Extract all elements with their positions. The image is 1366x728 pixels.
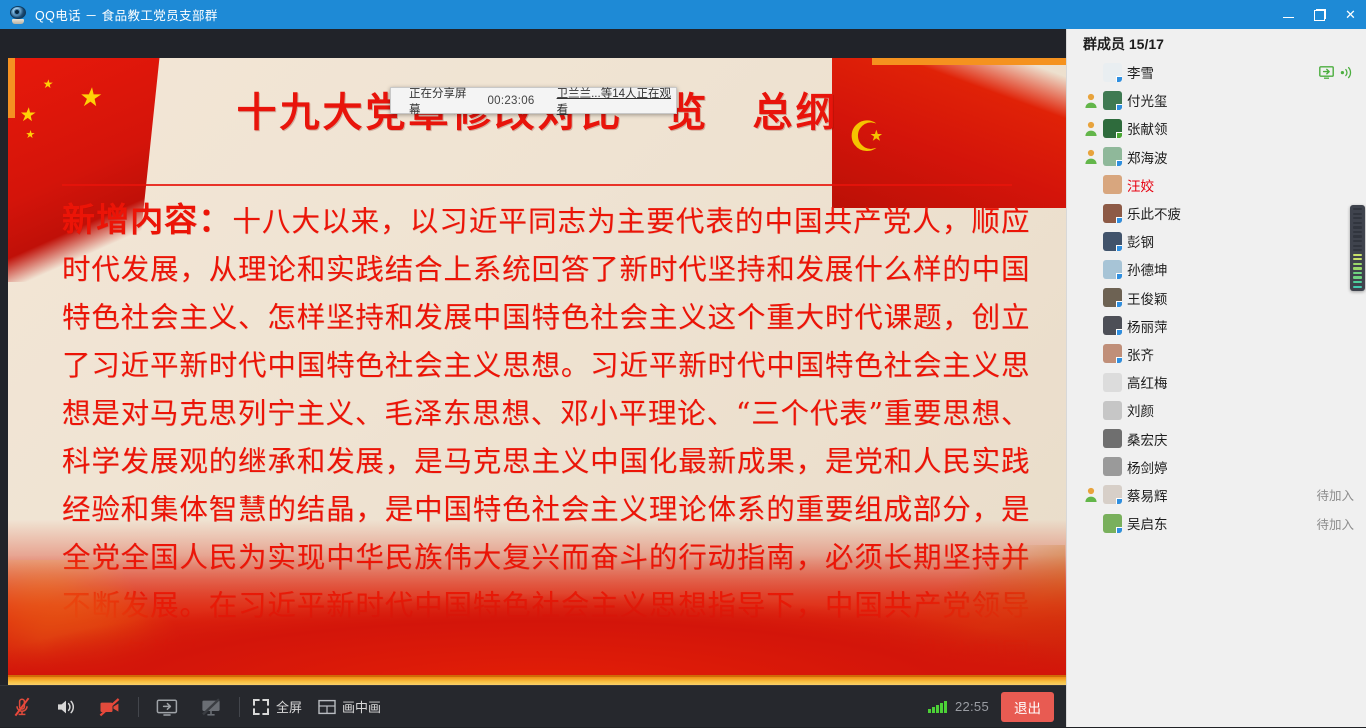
avatar-status-badge bbox=[1116, 76, 1122, 82]
member-panel: 群成员 15/17 李雪付光玺张献领郑海波汪姣乐此不疲彭钢孙德坤王俊颖杨丽萍张齐… bbox=[1066, 29, 1366, 727]
participant-flag-icon bbox=[1084, 121, 1098, 136]
window-title: QQ电话 － 食品教工党员支部群 bbox=[35, 5, 218, 24]
camera-muted-icon bbox=[98, 697, 122, 717]
sound-wave-icon bbox=[1340, 66, 1354, 79]
window-controls: ✕ bbox=[1273, 0, 1366, 29]
avatar bbox=[1103, 344, 1122, 363]
member-panel-header: 群成员 15/17 bbox=[1067, 29, 1366, 58]
red-wave-decoration bbox=[8, 555, 1067, 675]
avatar-status-badge bbox=[1116, 357, 1122, 363]
close-button[interactable]: ✕ bbox=[1335, 0, 1366, 29]
speaker-button[interactable] bbox=[44, 686, 88, 728]
restore-icon bbox=[1314, 9, 1326, 21]
audio-level-meter bbox=[1350, 205, 1365, 291]
signal-bars-icon bbox=[928, 700, 947, 713]
avatar-status-badge bbox=[1116, 498, 1122, 504]
avatar-status-badge bbox=[1116, 217, 1122, 223]
video-stage: ★ ★ ★ ★ ☪ 十九大党章修改对比一览 总纲 新增内容：十八大以来，以习近平… bbox=[0, 29, 1066, 727]
member-name: 杨丽萍 bbox=[1127, 316, 1168, 336]
member-list-item[interactable]: 桑宏庆 bbox=[1067, 424, 1366, 452]
avatar bbox=[1103, 63, 1122, 82]
member-list-item[interactable]: 张献领 bbox=[1067, 114, 1366, 142]
fullscreen-button[interactable]: 全屏 bbox=[246, 686, 312, 728]
member-list-item[interactable]: 杨丽萍 bbox=[1067, 312, 1366, 340]
picture-in-picture-icon bbox=[318, 699, 336, 715]
member-name: 吴启东 bbox=[1127, 513, 1168, 533]
avatar bbox=[1103, 514, 1122, 533]
orange-stripe-right bbox=[872, 58, 1067, 65]
member-name: 张齐 bbox=[1127, 344, 1154, 364]
share-screen-button[interactable] bbox=[145, 686, 189, 728]
member-list-item[interactable]: 王俊颖 bbox=[1067, 284, 1366, 312]
member-list-item[interactable]: 吴启东待加入 bbox=[1067, 509, 1366, 537]
avatar bbox=[1103, 373, 1122, 392]
whiteboard-disabled-button[interactable] bbox=[189, 686, 233, 728]
avatar-status-badge bbox=[1116, 160, 1122, 166]
minimize-button[interactable] bbox=[1273, 0, 1304, 29]
avatar bbox=[1103, 91, 1122, 110]
avatar bbox=[1103, 147, 1122, 166]
member-list-item[interactable]: 高红梅 bbox=[1067, 368, 1366, 396]
member-flag-slot bbox=[1079, 487, 1103, 502]
member-name: 汪姣 bbox=[1127, 175, 1154, 195]
minimize-icon bbox=[1283, 17, 1294, 18]
webcam-icon bbox=[9, 6, 27, 24]
shared-screen-slide[interactable]: ★ ★ ★ ★ ☪ 十九大党章修改对比一览 总纲 新增内容：十八大以来，以习近平… bbox=[8, 58, 1067, 699]
participant-flag-icon bbox=[1084, 93, 1098, 108]
member-name: 彭钢 bbox=[1127, 231, 1154, 251]
avatar bbox=[1103, 485, 1122, 504]
fullscreen-label: 全屏 bbox=[276, 697, 302, 716]
member-name: 王俊颖 bbox=[1127, 288, 1168, 308]
participant-flag-icon bbox=[1084, 149, 1098, 164]
member-flag-slot bbox=[1079, 121, 1103, 136]
avatar-status-badge bbox=[1116, 132, 1122, 138]
member-status-label: 待加入 bbox=[1316, 514, 1354, 533]
screen-share-status-bar[interactable]: 正在分享屏幕 00:23:06 卫兰兰...等14人正在观看 bbox=[390, 87, 677, 114]
avatar bbox=[1103, 401, 1122, 420]
avatar-status-badge bbox=[1116, 301, 1122, 307]
avatar bbox=[1103, 119, 1122, 138]
member-flag-slot bbox=[1079, 93, 1103, 108]
pip-label: 画中画 bbox=[342, 697, 381, 716]
member-name: 桑宏庆 bbox=[1127, 429, 1168, 449]
avatar bbox=[1103, 232, 1122, 251]
avatar-status-badge bbox=[1116, 527, 1122, 533]
member-status-label: 待加入 bbox=[1316, 485, 1354, 504]
avatar bbox=[1103, 457, 1122, 476]
window-title-bar[interactable]: QQ电话 － 食品教工党员支部群 ✕ bbox=[0, 0, 1366, 29]
microphone-muted-icon bbox=[12, 696, 32, 718]
member-list-item[interactable]: 蔡易辉待加入 bbox=[1067, 481, 1366, 509]
member-flag-slot bbox=[1079, 149, 1103, 164]
call-clock: 22:55 bbox=[955, 699, 989, 714]
member-list-item[interactable]: 李雪 bbox=[1067, 58, 1366, 86]
member-name: 付光玺 bbox=[1127, 90, 1168, 110]
member-list-item[interactable]: 汪姣 bbox=[1067, 171, 1366, 199]
microphone-muted-button[interactable] bbox=[0, 686, 44, 728]
share-status-label: 正在分享屏幕 bbox=[409, 85, 474, 117]
camera-muted-button[interactable] bbox=[88, 686, 132, 728]
close-icon: ✕ bbox=[1345, 8, 1356, 21]
member-name: 杨剑婷 bbox=[1127, 457, 1168, 477]
member-list-item[interactable]: 张齐 bbox=[1067, 340, 1366, 368]
screen-cast-icon bbox=[1319, 66, 1334, 79]
avatar bbox=[1103, 204, 1122, 223]
member-list-item[interactable]: 郑海波 bbox=[1067, 143, 1366, 171]
avatar-status-badge bbox=[1116, 273, 1122, 279]
avatar-status-badge bbox=[1116, 104, 1122, 110]
avatar bbox=[1103, 316, 1122, 335]
member-name: 乐此不疲 bbox=[1127, 203, 1181, 223]
avatar-status-badge bbox=[1116, 245, 1122, 251]
member-name: 高红梅 bbox=[1127, 372, 1168, 392]
avatar-status-badge bbox=[1116, 329, 1122, 335]
picture-in-picture-button[interactable]: 画中画 bbox=[312, 686, 391, 728]
participant-flag-icon bbox=[1084, 487, 1098, 502]
slide-lead-label: 新增内容： bbox=[62, 200, 232, 239]
slide-divider bbox=[62, 184, 1012, 186]
member-name: 李雪 bbox=[1127, 62, 1154, 82]
member-casting-icons bbox=[1319, 66, 1354, 79]
share-duration: 00:23:06 bbox=[487, 95, 534, 107]
whiteboard-disabled-icon bbox=[199, 697, 223, 717]
speaker-icon bbox=[55, 697, 77, 717]
member-name: 孙德坤 bbox=[1127, 259, 1168, 279]
member-list-item[interactable]: 杨剑婷 bbox=[1067, 453, 1366, 481]
fullscreen-icon bbox=[252, 698, 270, 716]
restore-button[interactable] bbox=[1304, 0, 1335, 29]
share-watchers-link[interactable]: 卫兰兰...等14人正在观看 bbox=[557, 85, 676, 117]
member-list-item[interactable]: 彭钢 bbox=[1067, 227, 1366, 255]
member-list-item[interactable]: 刘颜 bbox=[1067, 396, 1366, 424]
toolbar-divider-2 bbox=[239, 697, 240, 717]
avatar bbox=[1103, 288, 1122, 307]
member-name: 蔡易辉 bbox=[1127, 485, 1168, 505]
member-name: 郑海波 bbox=[1127, 147, 1168, 167]
toolbar-divider-1 bbox=[138, 697, 139, 717]
avatar bbox=[1103, 429, 1122, 448]
member-name: 刘颜 bbox=[1127, 400, 1154, 420]
member-name: 张献领 bbox=[1127, 118, 1168, 138]
avatar bbox=[1103, 260, 1122, 279]
member-list-item[interactable]: 乐此不疲 bbox=[1067, 199, 1366, 227]
toolbar-right-group: 22:55 退出 bbox=[928, 692, 1066, 722]
share-screen-icon bbox=[155, 697, 179, 717]
member-list-item[interactable]: 孙德坤 bbox=[1067, 255, 1366, 283]
member-list[interactable]: 李雪付光玺张献领郑海波汪姣乐此不疲彭钢孙德坤王俊颖杨丽萍张齐高红梅刘颜桑宏庆杨剑… bbox=[1067, 58, 1366, 727]
call-toolbar: 全屏 画中画 22:55 退出 bbox=[0, 685, 1066, 727]
member-list-item[interactable]: 付光玺 bbox=[1067, 86, 1366, 114]
avatar bbox=[1103, 175, 1122, 194]
exit-button[interactable]: 退出 bbox=[1001, 692, 1054, 722]
